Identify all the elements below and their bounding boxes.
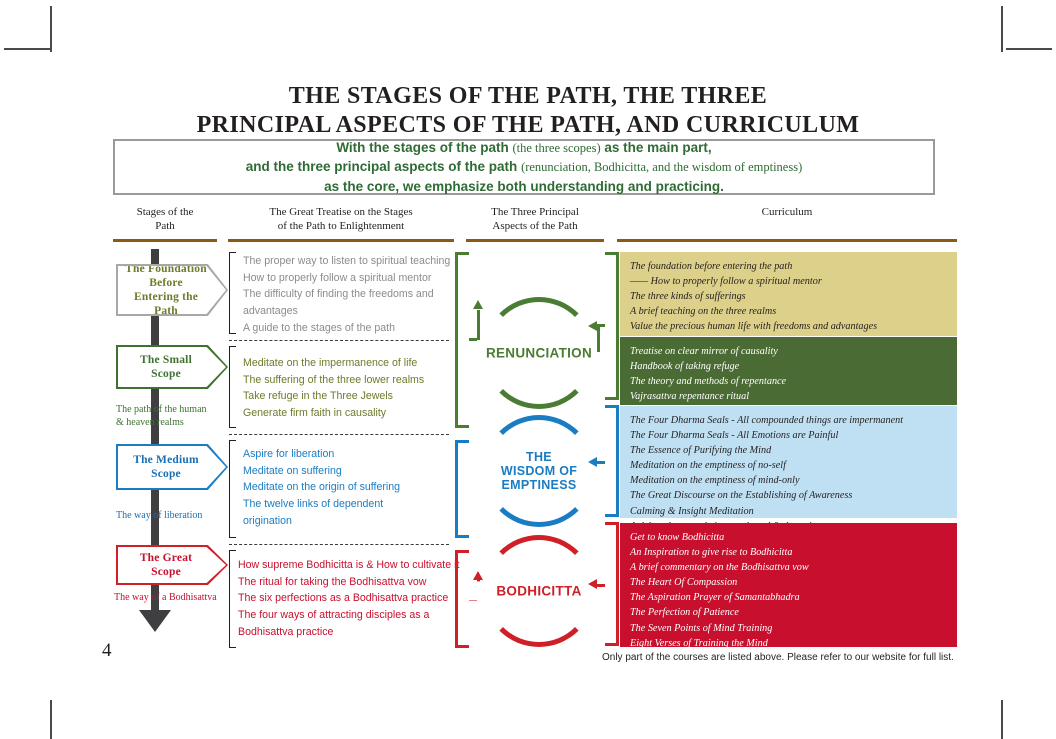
page-canvas: THE STAGES OF THE PATH, THE THREE PRINCI… — [0, 0, 1056, 739]
treatise-3-item-1: Meditate on suffering — [243, 463, 400, 480]
curriculum-panel-foundation[interactable]: The foundation before entering the path … — [620, 252, 957, 336]
curr-4-item-3: The Heart Of Compassion — [630, 575, 947, 590]
col3-line2: Aspects of the Path — [466, 219, 604, 233]
treatise-group-1: The proper way to listen to spiritual te… — [243, 253, 450, 337]
treatise-2-item-3: Generate firm faith in causality — [243, 405, 424, 422]
curr-4-item-0: Get to know Bodhicitta — [630, 530, 947, 545]
connector-left-renunciation — [455, 252, 477, 428]
treatise-4-item-3: The four ways of attracting disciples as… — [238, 607, 459, 624]
wisdom-label: THE WISDOM OF EMPTINESS — [469, 448, 609, 494]
treatise-group-2: Meditate on the impermanence of life The… — [243, 355, 424, 422]
subtitle-2a: and the three principal aspects of the p… — [246, 159, 518, 174]
subtitle-2b: (renunciation, Bodhicitta, and the wisdo… — [521, 160, 802, 174]
arrow-right-renunciation-icon — [588, 321, 597, 331]
treatise-3-item-4: origination — [243, 513, 400, 530]
connector-right-wisdom — [597, 405, 619, 517]
col1-line1: Stages of the — [113, 205, 217, 219]
column-header-great-treatise: The Great Treatise on the Stages of the … — [228, 205, 454, 242]
subtitle-1a: With the stages of the path — [336, 140, 508, 155]
treatise-2-item-1: The suffering of the three lower realms — [243, 372, 424, 389]
curr-4-item-2: A brief commentary on the Bodhisattva vo… — [630, 560, 947, 575]
curr-4-item-5: The Perfection of Patience — [630, 605, 947, 620]
column-header-curriculum: Curriculum — [617, 205, 957, 242]
path-end-arrow-icon — [139, 610, 171, 632]
treatise-1-item-0: The proper way to listen to spiritual te… — [243, 253, 450, 270]
treatise-3-item-3: The twelve links of dependent — [243, 496, 400, 513]
col4-line1: Curriculum — [617, 205, 957, 219]
arrow-left-bodhicitta-icon — [473, 571, 483, 580]
wisdom-text-3: EMPTINESS — [469, 478, 609, 492]
stage2-caption-line1: The path of the human — [116, 403, 207, 416]
col2-rule — [228, 239, 454, 242]
aspect-badge-wisdom-of-emptiness[interactable]: THE WISDOM OF EMPTINESS — [483, 415, 595, 527]
page-number: 4 — [102, 640, 112, 662]
curr-2-item-0: Treatise on clear mirror of causality — [630, 344, 947, 359]
treatise-group-3: Aspire for liberation Meditate on suffer… — [243, 446, 400, 530]
subtitle-line-3: as the core, we emphasize both understan… — [324, 177, 724, 197]
curr-2-item-2: The theory and methods of repentance — [630, 374, 947, 389]
crop-mark-right-top — [1006, 48, 1052, 50]
curr-1-item-0: The foundation before entering the path — [630, 259, 947, 274]
connector-right-renunciation-stem — [597, 324, 600, 352]
curr-3-item-3: Meditation on the emptiness of no-self — [630, 458, 947, 473]
curr-2-item-1: Handbook of taking refuge — [630, 359, 947, 374]
treatise-4-item-0: How supreme Bodhicitta is & How to culti… — [238, 557, 459, 574]
curr-1-item-1: —— How to properly follow a spiritual me… — [630, 274, 947, 289]
stage4-caption: The way of a Bodhisattva — [114, 591, 217, 604]
treatise-bracket-2 — [229, 346, 236, 428]
stage1-line3: Entering the Path — [124, 290, 208, 318]
treatise-1-item-1: How to properly follow a spiritual mento… — [243, 270, 450, 287]
crop-mark-left-top — [4, 48, 50, 50]
curr-2-item-3: Vajrasattva repentance ritual — [630, 389, 947, 404]
treatise-4-item-4: Bodhisattva practice — [238, 624, 459, 641]
arrow-left-renunciation-icon — [473, 300, 483, 309]
col3-rule — [466, 239, 604, 242]
stage-chevron-foundation[interactable]: The Foundation Before Entering the Path — [116, 264, 228, 316]
col4-line2 — [617, 219, 957, 233]
stage-chevron-medium-scope[interactable]: The Medium Scope — [116, 444, 228, 490]
curr-4-item-4: The Aspiration Prayer of Samantabhadra — [630, 590, 947, 605]
col3-line1: The Three Principal — [466, 205, 604, 219]
crop-mark-top-left — [50, 6, 52, 52]
connector-right-renunciation — [597, 252, 619, 400]
curr-1-item-4: Value the precious human life with freed… — [630, 319, 947, 334]
arrow-right-bodhicitta-icon — [588, 579, 597, 589]
arrow-right-wisdom-icon — [588, 457, 597, 467]
subtitle-box: With the stages of the path (the three s… — [113, 139, 935, 195]
col1-rule — [113, 239, 217, 242]
subtitle-line-2: and the three principal aspects of the p… — [246, 157, 803, 177]
stage-chevron-small-scope[interactable]: The Small Scope — [116, 345, 228, 389]
treatise-group-4: How supreme Bodhicitta is & How to culti… — [238, 557, 459, 641]
stage4-caption-line1: The way of a Bodhisattva — [114, 591, 217, 604]
treatise-3-item-2: Meditate on the origin of suffering — [243, 479, 400, 496]
stage3-line1: The Medium — [133, 453, 199, 467]
treatise-divider-1 — [229, 340, 449, 341]
column-header-stages: Stages of the Path — [113, 205, 217, 242]
curriculum-panel-medium-scope[interactable]: The Four Dharma Seals - All compounded t… — [620, 406, 957, 518]
treatise-1-item-2: The difficulty of finding the freedoms a… — [243, 286, 450, 303]
renunciation-text: RENUNCIATION — [469, 345, 609, 360]
stage2-caption: The path of the human & heaven realms — [116, 403, 207, 429]
column-header-three-principal-aspects: The Three Principal Aspects of the Path — [466, 205, 604, 242]
curr-3-item-1: The Four Dharma Seals - All Emotions are… — [630, 428, 947, 443]
curr-1-item-2: The three kinds of sufferings — [630, 289, 947, 304]
aspect-badge-bodhicitta[interactable]: BODHICITTA — [483, 535, 595, 647]
treatise-3-item-0: Aspire for liberation — [243, 446, 400, 463]
curr-4-item-7: Eight Verses of Training the Mind — [630, 636, 947, 651]
curr-4-item-1: An Inspiration to give rise to Bodhicitt… — [630, 545, 947, 560]
treatise-1-item-3: advantages — [243, 303, 450, 320]
crop-mark-bottom-right — [1001, 700, 1003, 739]
stage3-caption-line1: The way of liberation — [116, 509, 202, 522]
col4-rule — [617, 239, 957, 242]
aspect-badge-renunciation[interactable]: RENUNCIATION — [483, 297, 595, 409]
stage1-line1: The Foundation — [124, 262, 208, 276]
crop-mark-top-right — [1001, 6, 1003, 52]
treatise-divider-3 — [229, 544, 449, 545]
connector-left-renunciation-stem — [477, 310, 480, 340]
subtitle-1b: (the three scopes) — [512, 141, 600, 155]
stage4-line1: The Great Scope — [124, 551, 208, 579]
stage1-line2: Before — [124, 276, 208, 290]
subtitle-line-1: With the stages of the path (the three s… — [336, 138, 711, 158]
col2-line2: of the Path to Enlightenment — [228, 219, 454, 233]
stage3-caption: The way of liberation — [116, 509, 202, 522]
col2-line1: The Great Treatise on the Stages — [228, 205, 454, 219]
curr-3-item-4: Meditation on the emptiness of mind-only — [630, 473, 947, 488]
treatise-2-item-2: Take refuge in the Three Jewels — [243, 388, 424, 405]
curriculum-panel-small-scope[interactable]: Treatise on clear mirror of causality Ha… — [620, 337, 957, 405]
curr-3-item-2: The Essence of Purifying the Mind — [630, 443, 947, 458]
curriculum-panel-great-scope[interactable]: Get to know Bodhicitta An Inspiration to… — [620, 523, 957, 647]
path-spine-segment-2 — [151, 313, 159, 347]
stage3-line2: Scope — [133, 467, 199, 481]
title-line-2: PRINCIPAL ASPECTS OF THE PATH, AND CURRI… — [0, 111, 1056, 140]
connector-right-bodhicitta — [597, 522, 619, 646]
curr-1-item-3: A brief teaching on the three realms — [630, 304, 947, 319]
treatise-4-item-2: The six perfections as a Bodhisattva pra… — [238, 590, 459, 607]
treatise-bracket-3 — [229, 440, 236, 538]
subtitle-1c: as the main part, — [604, 140, 711, 155]
treatise-bracket-1 — [229, 252, 236, 334]
curr-4-item-6: The Seven Points of Mind Training — [630, 621, 947, 636]
treatise-divider-2 — [229, 434, 449, 435]
stage-chevron-great-scope[interactable]: The Great Scope — [116, 545, 228, 585]
col1-line2: Path — [113, 219, 217, 233]
treatise-4-item-1: The ritual for taking the Bodhisattva vo… — [238, 574, 459, 591]
crop-mark-bottom-left — [50, 700, 52, 739]
stage2-caption-line2: & heaven realms — [116, 416, 207, 429]
curriculum-footnote: Only part of the courses are listed abov… — [602, 652, 954, 663]
treatise-1-item-4: A guide to the stages of the path — [243, 320, 450, 337]
treatise-2-item-0: Meditate on the impermanence of life — [243, 355, 424, 372]
title-line-1: THE STAGES OF THE PATH, THE THREE — [0, 82, 1056, 111]
curr-3-item-0: The Four Dharma Seals - All compounded t… — [630, 413, 947, 428]
curr-3-item-5: The Great Discourse on the Establishing … — [630, 488, 947, 503]
treatise-bracket-4 — [229, 550, 236, 648]
page-title: THE STAGES OF THE PATH, THE THREE PRINCI… — [0, 82, 1056, 141]
renunciation-label: RENUNCIATION — [469, 343, 609, 362]
curr-3-item-6: Calming & Insight Meditation — [630, 504, 947, 519]
stage2-line1: The Small Scope — [124, 353, 208, 381]
